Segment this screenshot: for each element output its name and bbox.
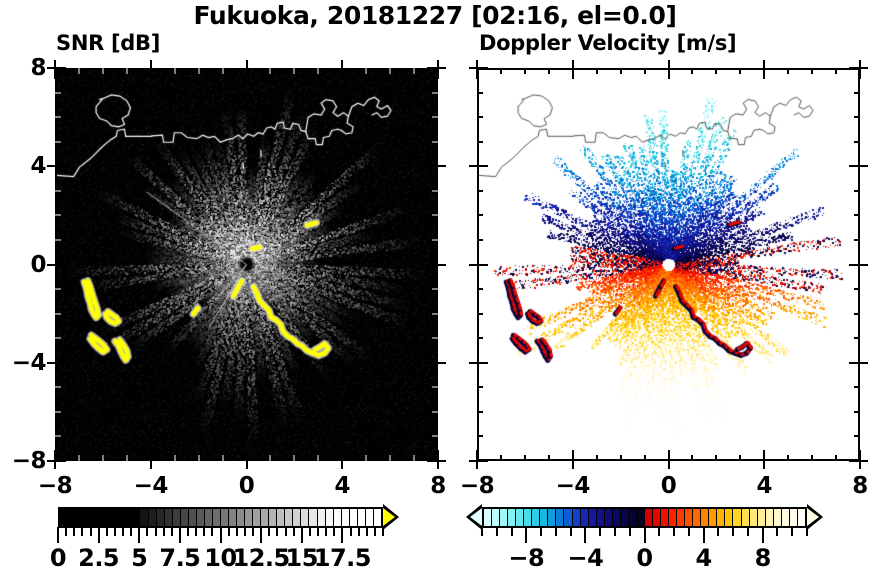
colorbar-segment <box>629 509 637 526</box>
tick-y <box>432 92 438 94</box>
tick-y <box>849 362 860 364</box>
colorbar-segment <box>798 509 805 526</box>
colorbar-segment <box>782 509 790 526</box>
tick-y-outer <box>860 362 868 364</box>
tick-y <box>432 141 438 143</box>
colorbar-label: 12.5 <box>233 544 290 572</box>
tick-x-outer <box>572 461 574 469</box>
tick-y <box>477 92 483 94</box>
colorbar-segment <box>326 509 334 526</box>
colorbar-segment <box>358 509 366 526</box>
ytick-label: −4 <box>2 350 46 376</box>
tick-y <box>477 435 483 437</box>
colorbar-segment <box>621 509 629 526</box>
colorbar-segment <box>108 509 116 526</box>
tick-y <box>55 141 61 143</box>
snr-colorbar-body <box>58 507 383 528</box>
tick-y <box>477 165 488 167</box>
colorbar-tick <box>806 527 808 536</box>
colorbar-tick <box>341 527 343 543</box>
colorbar-segment <box>213 509 221 526</box>
tick-x-outer <box>763 461 765 469</box>
colorbar-tick <box>762 527 764 543</box>
tick-y <box>477 386 483 388</box>
tick-y <box>55 264 66 266</box>
tick-y-outer <box>860 460 868 462</box>
colorbar-segment <box>318 509 326 526</box>
colorbar-label: 7.5 <box>159 544 200 572</box>
xtick-label: 8 <box>430 473 446 499</box>
tick-y-outer <box>47 264 55 266</box>
colorbar-tick <box>130 527 132 536</box>
tick-y <box>427 362 438 364</box>
tick-y <box>55 313 61 315</box>
colorbar-tick <box>114 527 116 536</box>
colorbar-tick <box>236 527 238 536</box>
tick-x-outer <box>54 461 56 469</box>
colorbar-segment <box>68 509 76 526</box>
colorbar-label: 17.5 <box>314 544 371 572</box>
tick-y <box>432 288 438 290</box>
tick-y <box>55 92 61 94</box>
colorbar-segment <box>301 509 309 526</box>
tick-x <box>269 455 271 461</box>
tick-x <box>572 450 574 461</box>
colorbar-tick <box>211 527 213 536</box>
colorbar-segment <box>717 509 725 526</box>
colorbar-segment <box>532 509 540 526</box>
tick-y-outer <box>860 264 868 266</box>
colorbar-label: 0 <box>636 544 652 572</box>
tick-x <box>341 450 343 461</box>
colorbar-tick <box>325 527 327 536</box>
tick-y <box>477 460 488 462</box>
colorbar-segment <box>677 509 685 526</box>
colorbar-segment <box>366 509 374 526</box>
tick-y <box>432 239 438 241</box>
tick-y <box>55 214 61 216</box>
colorbar-segment <box>701 509 709 526</box>
tick-x <box>787 455 789 461</box>
tick-y <box>477 288 483 290</box>
tick-y <box>477 362 488 364</box>
colorbar-segment <box>766 509 774 526</box>
tick-x <box>644 455 646 461</box>
tick-y <box>55 165 66 167</box>
tick-y-outer <box>47 165 55 167</box>
colorbar-tick <box>747 527 749 536</box>
colorbar-tick <box>155 527 157 536</box>
tick-y-outer <box>438 264 446 266</box>
colorbar-segment <box>253 509 261 526</box>
colorbar-tick <box>122 527 124 536</box>
colorbar-label: −4 <box>568 544 604 572</box>
doppler-colorbar: −8−4048 <box>0 0 870 70</box>
colorbar-segment <box>548 509 556 526</box>
tick-y <box>55 288 61 290</box>
xtick-label: −4 <box>556 473 590 499</box>
tick-y <box>432 214 438 216</box>
colorbar-segment <box>774 509 782 526</box>
colorbar-label: −8 <box>508 544 544 572</box>
tick-y-outer <box>469 460 477 462</box>
colorbar-tick <box>65 527 67 536</box>
colorbar-tick <box>195 527 197 536</box>
colorbar-label: 5 <box>131 544 147 572</box>
colorbar-tick <box>260 527 262 543</box>
colorbar-segment <box>221 509 229 526</box>
colorbar-tick <box>98 527 100 543</box>
tick-x <box>524 455 526 461</box>
snr-radar-image <box>57 70 436 459</box>
colorbar-segment <box>245 509 253 526</box>
colorbar-extend-max-fill <box>383 508 395 526</box>
colorbar-segment <box>540 509 548 526</box>
colorbar-tick <box>333 527 335 536</box>
colorbar-segment <box>229 509 237 526</box>
tick-y <box>427 264 438 266</box>
tick-x-outer <box>668 461 670 469</box>
colorbar-segment <box>693 509 701 526</box>
colorbar-tick <box>703 527 705 543</box>
tick-y <box>477 337 483 339</box>
tick-x <box>102 455 104 461</box>
tick-y-outer <box>47 460 55 462</box>
tick-y <box>432 116 438 118</box>
tick-x <box>198 455 200 461</box>
tick-y <box>432 337 438 339</box>
colorbar-label: 0 <box>50 544 66 572</box>
colorbar-segment <box>556 509 564 526</box>
tick-x-outer <box>150 461 152 469</box>
colorbar-tick <box>629 527 631 536</box>
tick-y-outer <box>469 264 477 266</box>
tick-x <box>293 455 295 461</box>
xtick-label: 4 <box>756 473 772 499</box>
tick-x <box>500 455 502 461</box>
tick-y <box>55 460 66 462</box>
colorbar-tick <box>309 527 311 536</box>
colorbar-tick <box>688 527 690 536</box>
colorbar-tick <box>146 527 148 536</box>
tick-x <box>246 450 248 461</box>
colorbar-segment <box>116 509 124 526</box>
colorbar-segment <box>500 509 508 526</box>
doppler-plot-area[interactable] <box>477 68 860 461</box>
colorbar-tick <box>252 527 254 536</box>
colorbar-segment <box>197 509 205 526</box>
tick-x <box>126 455 128 461</box>
tick-y <box>854 386 860 388</box>
tick-y <box>854 239 860 241</box>
tick-y-outer <box>469 362 477 364</box>
tick-y-outer <box>860 165 868 167</box>
tick-y <box>854 288 860 290</box>
tick-x-outer <box>859 461 861 469</box>
tick-y <box>432 190 438 192</box>
colorbar-tick <box>106 527 108 536</box>
tick-x <box>78 455 80 461</box>
colorbar-segment <box>508 509 516 526</box>
colorbar-segment <box>165 509 173 526</box>
tick-x <box>668 450 670 461</box>
colorbar-segment <box>484 509 492 526</box>
tick-y <box>854 337 860 339</box>
tick-y <box>854 214 860 216</box>
tick-y <box>55 386 61 388</box>
colorbar-segment <box>140 509 148 526</box>
tick-y <box>432 386 438 388</box>
colorbar-segment <box>564 509 572 526</box>
tick-y <box>477 239 483 241</box>
colorbar-segment <box>758 509 766 526</box>
colorbar-tick <box>511 527 513 536</box>
tick-x <box>691 455 693 461</box>
colorbar-label: 8 <box>755 544 771 572</box>
tick-x-outer <box>246 461 248 469</box>
colorbar-tick <box>374 527 376 536</box>
tick-y <box>854 435 860 437</box>
colorbar-segment <box>750 509 758 526</box>
colorbar-segment <box>181 509 189 526</box>
colorbar-tick <box>228 527 230 536</box>
colorbar-tick <box>220 527 222 543</box>
colorbar-tick <box>317 527 319 536</box>
tick-y <box>477 190 483 192</box>
tick-x-outer <box>476 461 478 469</box>
tick-x <box>222 455 224 461</box>
tick-y <box>477 116 483 118</box>
tick-x <box>811 455 813 461</box>
tick-y <box>854 141 860 143</box>
tick-x <box>620 455 622 461</box>
tick-y <box>849 264 860 266</box>
tick-y <box>55 411 61 413</box>
tick-x <box>174 455 176 461</box>
colorbar-tick <box>179 527 181 543</box>
colorbar-segment <box>132 509 140 526</box>
colorbar-tick <box>584 527 586 543</box>
colorbar-tick <box>138 527 140 543</box>
colorbar-tick <box>276 527 278 536</box>
tick-x <box>389 455 391 461</box>
colorbar-tick <box>673 527 675 536</box>
tick-y <box>55 190 61 192</box>
colorbar-segment <box>516 509 524 526</box>
tick-x-outer <box>341 461 343 469</box>
colorbar-segment <box>92 509 100 526</box>
xtick-label: 8 <box>852 473 868 499</box>
colorbar-segment <box>581 509 589 526</box>
tick-y <box>432 313 438 315</box>
xtick-label: 4 <box>334 473 350 499</box>
colorbar-segment <box>605 509 613 526</box>
colorbar-tick <box>57 527 59 543</box>
doppler-radar-image <box>479 70 858 459</box>
colorbar-segment <box>269 509 277 526</box>
tick-x <box>763 450 765 461</box>
colorbar-segment <box>637 509 645 526</box>
colorbar-segment <box>653 509 661 526</box>
colorbar-segment <box>342 509 350 526</box>
colorbar-tick <box>244 527 246 536</box>
colorbar-segment <box>597 509 605 526</box>
ytick-label: 4 <box>2 153 46 179</box>
tick-y <box>477 141 483 143</box>
colorbar-segment <box>60 509 68 526</box>
ytick-label: −8 <box>2 448 46 474</box>
tick-x <box>365 455 367 461</box>
colorbar-segment <box>573 509 581 526</box>
colorbar-tick <box>90 527 92 536</box>
colorbar-segment <box>124 509 132 526</box>
colorbar-segment <box>350 509 358 526</box>
tick-y-outer <box>47 362 55 364</box>
colorbar-tick <box>570 527 572 536</box>
tick-x <box>317 455 319 461</box>
tick-y <box>55 239 61 241</box>
tick-y <box>55 362 66 364</box>
colorbar-tick <box>732 527 734 536</box>
colorbar-tick <box>791 527 793 536</box>
tick-x <box>548 455 550 461</box>
colorbar-segment <box>742 509 750 526</box>
colorbar-segment <box>334 509 342 526</box>
colorbar-segment <box>613 509 621 526</box>
colorbar-tick <box>358 527 360 536</box>
tick-x-outer <box>437 461 439 469</box>
tick-y <box>849 165 860 167</box>
tick-y <box>477 411 483 413</box>
colorbar-segment <box>149 509 157 526</box>
colorbar-segment <box>374 509 381 526</box>
colorbar-extend-max-fill <box>807 508 819 526</box>
colorbar-segment <box>277 509 285 526</box>
tick-x <box>835 455 837 461</box>
tick-y-outer <box>469 165 477 167</box>
colorbar-segment <box>309 509 317 526</box>
colorbar-segment <box>669 509 677 526</box>
colorbar-segment <box>661 509 669 526</box>
tick-y <box>477 313 483 315</box>
colorbar-extend-min-fill <box>470 508 482 526</box>
tick-x <box>150 450 152 461</box>
colorbar-tick <box>614 527 616 536</box>
tick-y <box>854 411 860 413</box>
colorbar-segment <box>84 509 92 526</box>
tick-y-outer <box>438 165 446 167</box>
colorbar-tick <box>496 527 498 536</box>
tick-y-outer <box>438 362 446 364</box>
colorbar-segment <box>293 509 301 526</box>
colorbar-tick <box>163 527 165 536</box>
tick-y <box>427 165 438 167</box>
colorbar-segment <box>645 509 653 526</box>
colorbar-tick <box>268 527 270 536</box>
ytick-label: 0 <box>2 252 46 278</box>
colorbar-segment <box>76 509 84 526</box>
colorbar-segment <box>285 509 293 526</box>
colorbar-tick <box>658 527 660 536</box>
tick-y <box>854 190 860 192</box>
colorbar-tick <box>525 527 527 543</box>
colorbar-segment <box>589 509 597 526</box>
xtick-label: −4 <box>134 473 168 499</box>
colorbar-tick <box>644 527 646 543</box>
colorbar-segment <box>205 509 213 526</box>
colorbar-segment <box>237 509 245 526</box>
xtick-label: −8 <box>38 473 72 499</box>
tick-y <box>854 313 860 315</box>
colorbar-tick <box>366 527 368 536</box>
colorbar-tick <box>540 527 542 536</box>
tick-y-outer <box>438 460 446 462</box>
tick-x <box>596 455 598 461</box>
colorbar-segment <box>725 509 733 526</box>
colorbar-segment <box>157 509 165 526</box>
tick-y <box>55 435 61 437</box>
colorbar-tick <box>776 527 778 536</box>
tick-y <box>477 264 488 266</box>
tick-y <box>55 116 61 118</box>
colorbar-tick <box>717 527 719 536</box>
colorbar-tick <box>301 527 303 543</box>
colorbar-tick <box>599 527 601 536</box>
colorbar-segment <box>524 509 532 526</box>
tick-y <box>477 214 483 216</box>
colorbar-segment <box>189 509 197 526</box>
colorbar-segment <box>733 509 741 526</box>
colorbar-tick <box>481 527 483 536</box>
tick-x <box>739 455 741 461</box>
tick-y <box>432 411 438 413</box>
colorbar-tick <box>293 527 295 536</box>
tick-x <box>715 455 717 461</box>
colorbar-segment <box>100 509 108 526</box>
colorbar-segment <box>790 509 798 526</box>
colorbar-tick <box>81 527 83 536</box>
colorbar-label: 4 <box>695 544 711 572</box>
colorbar-tick <box>73 527 75 536</box>
colorbar-tick <box>171 527 173 536</box>
colorbar-segment <box>492 509 500 526</box>
xtick-label: 0 <box>239 473 255 499</box>
colorbar-tick <box>285 527 287 536</box>
tick-y <box>854 92 860 94</box>
colorbar-tick <box>187 527 189 536</box>
xtick-label: 0 <box>661 473 677 499</box>
tick-y <box>432 435 438 437</box>
colorbar-segment <box>685 509 693 526</box>
doppler-colorbar-body <box>482 507 807 528</box>
colorbar-segment <box>173 509 181 526</box>
colorbar-segment <box>261 509 269 526</box>
tick-y <box>55 337 61 339</box>
tick-y <box>854 116 860 118</box>
colorbar-segment <box>709 509 717 526</box>
colorbar-tick <box>203 527 205 536</box>
snr-plot-area[interactable] <box>55 68 438 461</box>
colorbar-label: 2.5 <box>78 544 119 572</box>
colorbar-tick <box>350 527 352 536</box>
tick-x <box>413 455 415 461</box>
colorbar-tick <box>555 527 557 536</box>
xtick-label: −8 <box>460 473 494 499</box>
colorbar-tick <box>382 527 384 536</box>
